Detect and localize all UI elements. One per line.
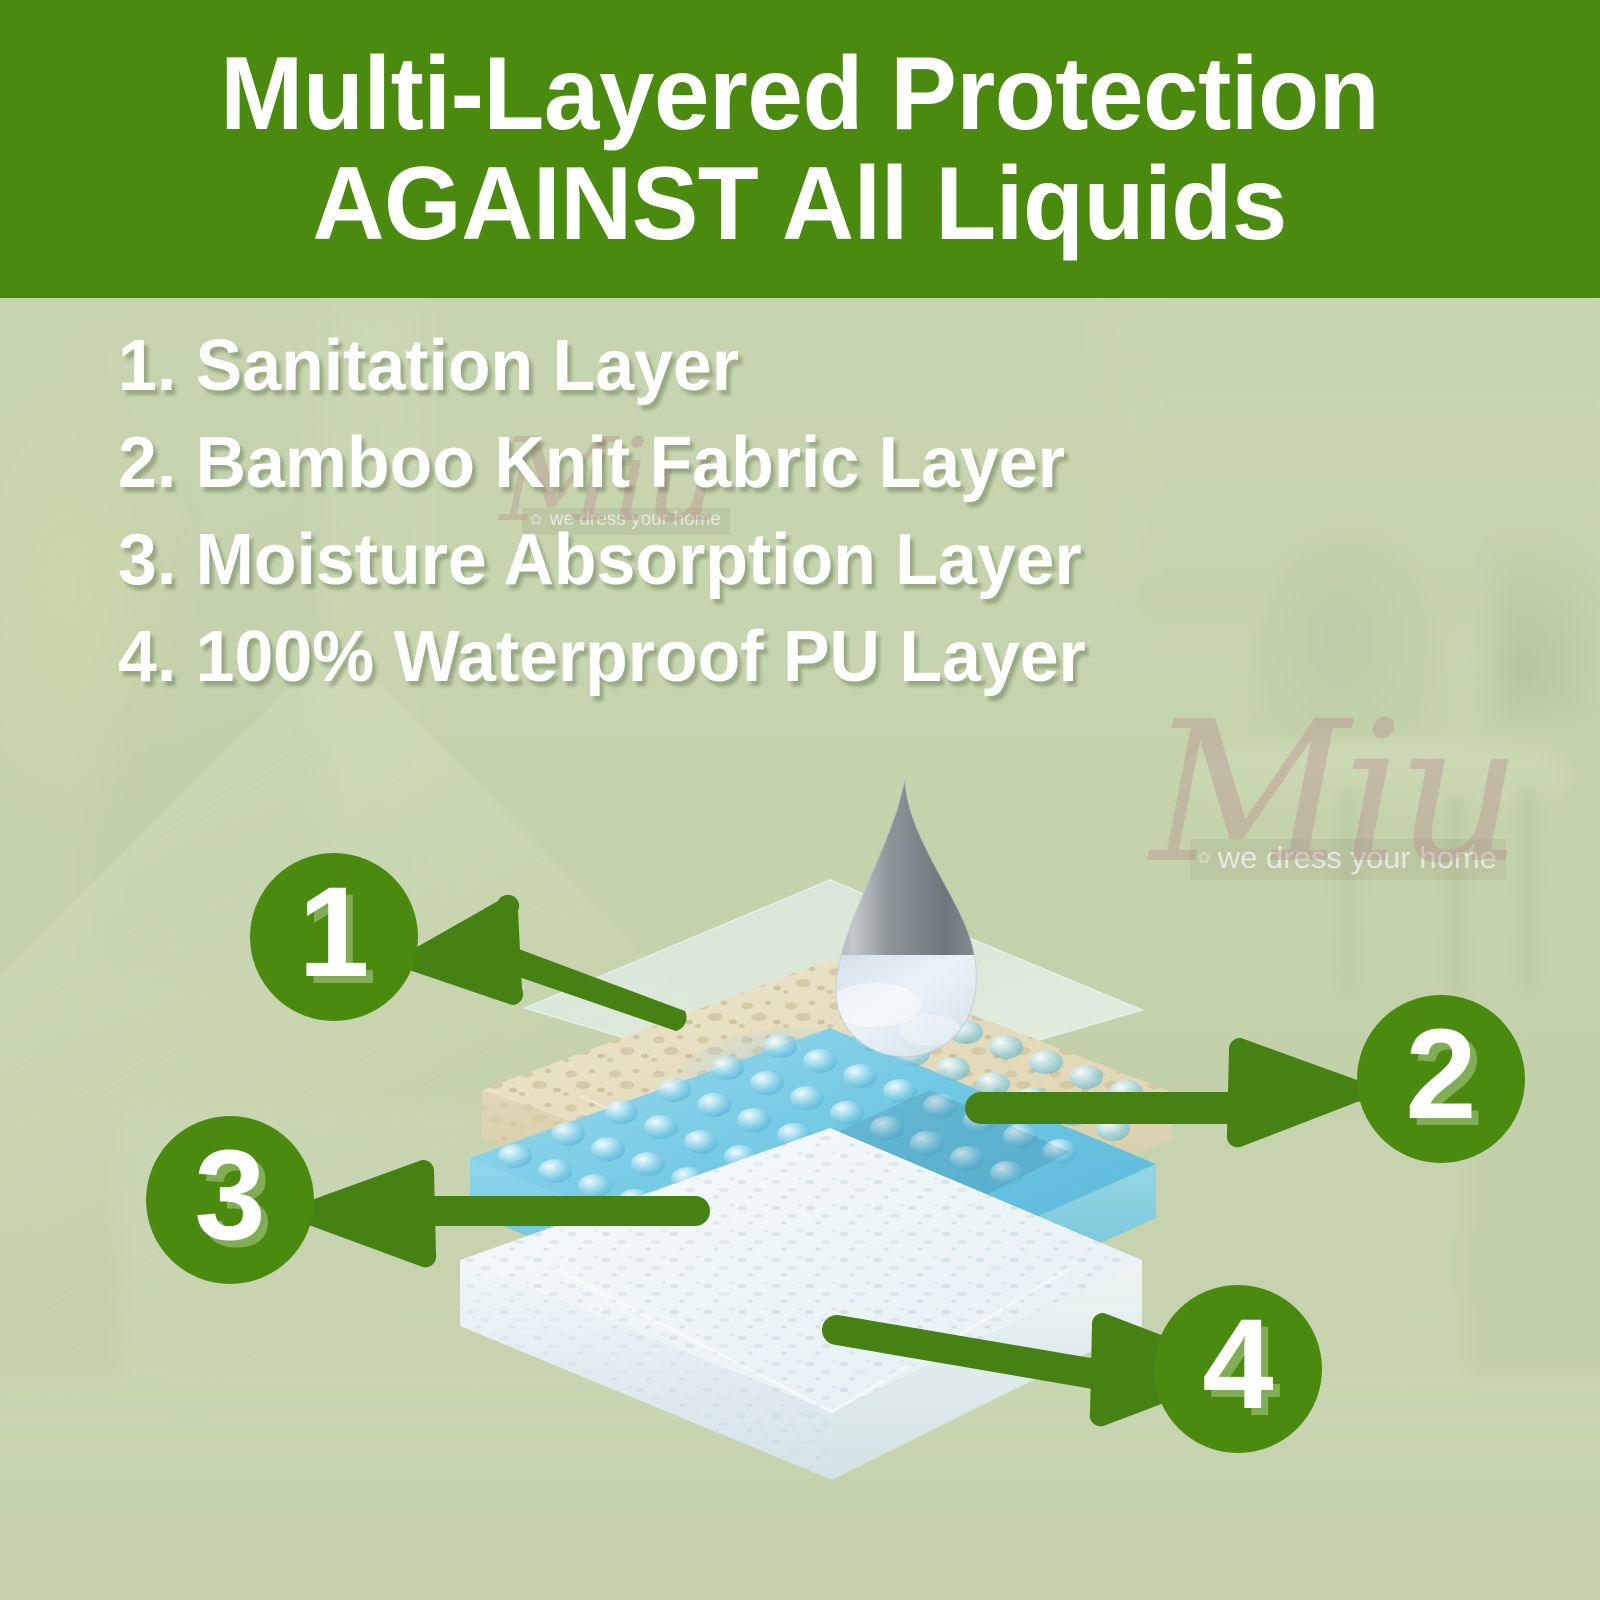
list-item: 3. Moisture Absorption Layer	[118, 512, 1086, 609]
layer-list: 1. Sanitation Layer 2. Bamboo Knit Fabri…	[118, 318, 1116, 706]
badge-1[interactable]: 1	[250, 853, 418, 1021]
badge-number: 1	[298, 869, 369, 997]
badge-number: 3	[194, 1132, 265, 1260]
title-line-2: AGAINST All Liquids	[221, 149, 1380, 259]
badge-2[interactable]: 2	[1357, 995, 1525, 1163]
arrow-to-badge-3	[300, 1152, 710, 1272]
badge-number: 4	[1202, 1301, 1273, 1429]
infographic-poster: Miu ✿ we dress your home Miu ✿ we dress …	[0, 0, 1600, 1600]
list-item: 1. Sanitation Layer	[118, 318, 1086, 415]
list-item: 2. Bamboo Knit Fabric Layer	[118, 415, 1086, 512]
page-title: Multi-Layered Protection AGAINST All Liq…	[221, 39, 1380, 259]
badge-3[interactable]: 3	[146, 1116, 314, 1284]
arrow-to-badge-2	[965, 1020, 1365, 1140]
header-banner: Multi-Layered Protection AGAINST All Liq…	[0, 0, 1600, 298]
list-item: 4. 100% Waterproof PU Layer	[118, 609, 1086, 706]
arrow-to-badge-1	[400, 893, 690, 1033]
title-line-1: Multi-Layered Protection	[221, 36, 1380, 152]
badge-number: 2	[1405, 1011, 1476, 1139]
badge-4[interactable]: 4	[1154, 1285, 1322, 1453]
